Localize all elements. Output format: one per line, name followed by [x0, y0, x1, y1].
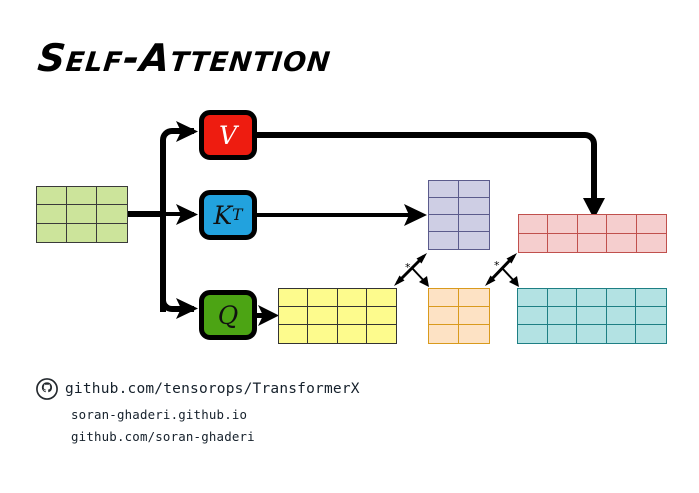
q-box-label: Q [218, 303, 239, 328]
matrix-cell [607, 325, 637, 343]
matrix-cell [279, 325, 308, 343]
v-matrix [517, 288, 667, 344]
matrix-cell [429, 198, 459, 215]
matrix-cell [518, 307, 548, 325]
connector-k-out [255, 213, 421, 217]
footer-main-link[interactable]: github.com/tensorops/TransformerX [65, 381, 360, 397]
k-output-matrix [428, 180, 490, 250]
matrix-cell [367, 325, 396, 343]
matrix-cell [459, 307, 489, 325]
matrix-cell [67, 187, 97, 205]
matrix-cell [367, 289, 396, 307]
matrix-cell [338, 325, 367, 343]
matrix-cell [636, 325, 666, 343]
matrix-cell [367, 307, 396, 325]
matrix-cell [429, 215, 459, 232]
matrix-cell [637, 234, 666, 253]
footer-sub-link-1[interactable]: soran-ghaderi.github.io [71, 407, 360, 422]
matrix-cell [429, 289, 459, 307]
matrix-cell [518, 289, 548, 307]
multiply-arrows-2 [485, 253, 519, 287]
matrix-cell [459, 181, 489, 198]
matrix-cell [548, 325, 578, 343]
connector-to-k [160, 212, 194, 216]
matrix-cell [37, 205, 67, 223]
connector-q-out [255, 313, 271, 318]
matrix-cell [519, 215, 548, 234]
matrix-cell [578, 234, 607, 253]
matrix-cell [518, 325, 548, 343]
matrix-cell [578, 215, 607, 234]
matrix-cell [577, 325, 607, 343]
matrix-cell [459, 232, 489, 249]
matrix-cell [459, 325, 489, 343]
diagram-canvas: Self-Attention [0, 0, 699, 493]
matrix-cell [607, 307, 637, 325]
matrix-cell [97, 187, 127, 205]
footer-sub-link-2[interactable]: github.com/soran-ghaderi [71, 429, 360, 444]
matrix-cell [338, 289, 367, 307]
multiply-arrows-1 [394, 253, 429, 287]
matrix-cell [548, 289, 578, 307]
matrix-cell [636, 289, 666, 307]
matrix-cell [97, 205, 127, 223]
q-box[interactable]: Q [199, 290, 257, 340]
v-box-label: V [219, 123, 237, 148]
q-output-matrix [278, 288, 397, 344]
matrix-cell [308, 325, 337, 343]
input-matrix [36, 186, 128, 243]
k-box-label: K [213, 203, 232, 228]
matrix-cell [607, 289, 637, 307]
connector-to-v [172, 128, 194, 134]
matrix-cell [67, 205, 97, 223]
matrix-cell [548, 215, 577, 234]
matrix-cell [97, 224, 127, 242]
scores-matrix [428, 288, 490, 344]
matrix-cell [607, 215, 636, 234]
matrix-cell [636, 307, 666, 325]
github-icon [36, 378, 58, 400]
connector-split-trunk [160, 140, 166, 312]
matrix-cell [37, 224, 67, 242]
matrix-cell [577, 289, 607, 307]
matrix-cell [429, 307, 459, 325]
connector-v-out-vertical [591, 144, 597, 200]
matrix-cell [637, 215, 666, 234]
multiply-operator-1: * [405, 262, 411, 273]
matrix-cell [429, 325, 459, 343]
matrix-cell [459, 215, 489, 232]
matrix-cell [607, 234, 636, 253]
matrix-cell [308, 307, 337, 325]
attention-out-matrix [518, 214, 667, 253]
matrix-cell [548, 307, 578, 325]
matrix-cell [279, 289, 308, 307]
page-title: Self-Attention [36, 36, 334, 80]
matrix-cell [37, 187, 67, 205]
connector-to-q [172, 306, 194, 312]
matrix-cell [577, 307, 607, 325]
footer: github.com/tensorops/TransformerX soran-… [36, 378, 360, 444]
matrix-cell [459, 289, 489, 307]
multiply-operator-2: * [494, 260, 500, 271]
matrix-cell [338, 307, 367, 325]
matrix-cell [429, 181, 459, 198]
connector-v-out-horizontal [255, 132, 585, 138]
matrix-cell [548, 234, 577, 253]
matrix-cell [429, 232, 459, 249]
matrix-cell [279, 307, 308, 325]
matrix-cell [308, 289, 337, 307]
matrix-cell [67, 224, 97, 242]
matrix-cell [459, 198, 489, 215]
k-transpose-box[interactable]: KT [199, 190, 257, 240]
v-box[interactable]: V [199, 110, 257, 160]
matrix-cell [519, 234, 548, 253]
